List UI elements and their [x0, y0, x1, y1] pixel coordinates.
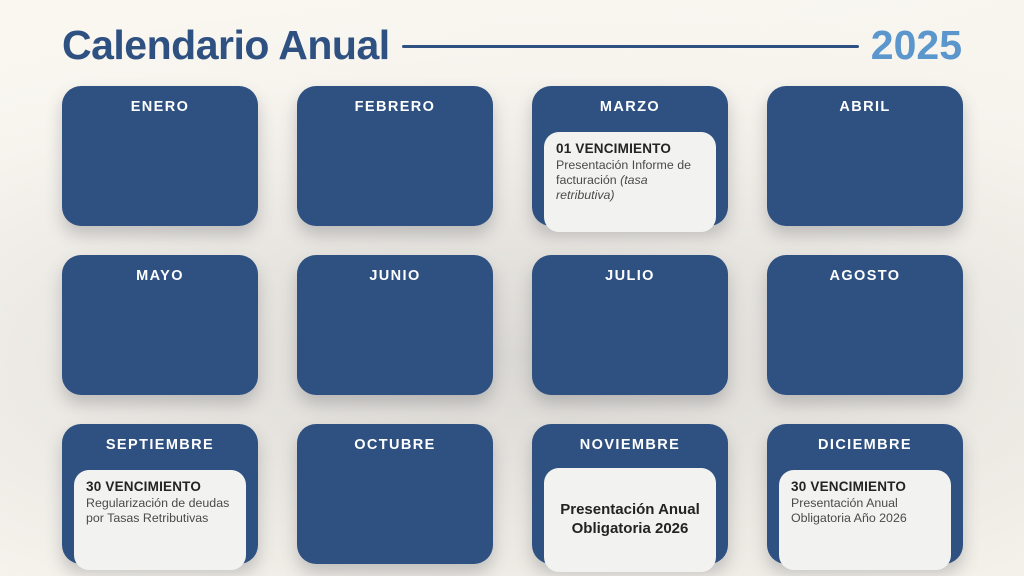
month-name-label: ENERO: [62, 100, 258, 116]
month-card[interactable]: ABRIL: [767, 86, 963, 226]
month-card[interactable]: OCTUBRE: [297, 424, 493, 564]
note-centered-text: Presentación Anual Obligatoria 2026: [554, 501, 706, 539]
month-name-label: MAYO: [62, 269, 258, 285]
month-name-label: NOVIEMBRE: [532, 438, 728, 454]
header-divider-rule: [402, 45, 859, 48]
month-card[interactable]: MARZO01 VENCIMIENTOPresentación Informe …: [532, 86, 728, 226]
note-body-text: Regularización de deudas por Tasas Retri…: [86, 496, 229, 525]
month-card[interactable]: JUNIO: [297, 255, 493, 395]
note-body: Presentación Informe de facturación (tas…: [556, 158, 704, 203]
month-name-label: JULIO: [532, 269, 728, 285]
month-note-box: 30 VENCIMIENTOPresentación Anual Obligat…: [779, 470, 951, 570]
note-body-text: Presentación Anual Obligatoria Año 2026: [791, 496, 907, 525]
note-body: Presentación Anual Obligatoria Año 2026: [791, 496, 939, 526]
month-card[interactable]: NOVIEMBREPresentación Anual Obligatoria …: [532, 424, 728, 564]
month-name-label: AGOSTO: [767, 269, 963, 285]
month-name-label: FEBRERO: [297, 100, 493, 116]
note-title: 30 VENCIMIENTO: [86, 479, 234, 495]
note-title: 30 VENCIMIENTO: [791, 479, 939, 495]
month-name-label: DICIEMBRE: [767, 438, 963, 454]
month-name-label: MARZO: [532, 100, 728, 116]
month-card[interactable]: DICIEMBRE30 VENCIMIENTOPresentación Anua…: [767, 424, 963, 564]
month-name-label: ABRIL: [767, 100, 963, 116]
month-card[interactable]: JULIO: [532, 255, 728, 395]
month-note-box: Presentación Anual Obligatoria 2026: [544, 468, 716, 572]
month-card[interactable]: MAYO: [62, 255, 258, 395]
month-card[interactable]: ENERO: [62, 86, 258, 226]
month-note-box: 01 VENCIMIENTOPresentación Informe de fa…: [544, 132, 716, 232]
month-grid: ENEROFEBREROMARZO01 VENCIMIENTOPresentac…: [62, 86, 962, 556]
month-note-box: 30 VENCIMIENTORegularización de deudas p…: [74, 470, 246, 570]
poster-header: Calendario Anual 2025: [62, 16, 962, 74]
month-card[interactable]: SEPTIEMBRE30 VENCIMIENTORegularización d…: [62, 424, 258, 564]
month-card[interactable]: AGOSTO: [767, 255, 963, 395]
note-body: Regularización de deudas por Tasas Retri…: [86, 496, 234, 526]
month-name-label: JUNIO: [297, 269, 493, 285]
month-name-label: OCTUBRE: [297, 438, 493, 454]
calendar-poster: Calendario Anual 2025 ENEROFEBREROMARZO0…: [0, 0, 1024, 576]
year-label: 2025: [871, 25, 962, 66]
month-name-label: SEPTIEMBRE: [62, 438, 258, 454]
page-title: Calendario Anual: [62, 25, 390, 66]
note-title: 01 VENCIMIENTO: [556, 141, 704, 157]
month-card[interactable]: FEBRERO: [297, 86, 493, 226]
